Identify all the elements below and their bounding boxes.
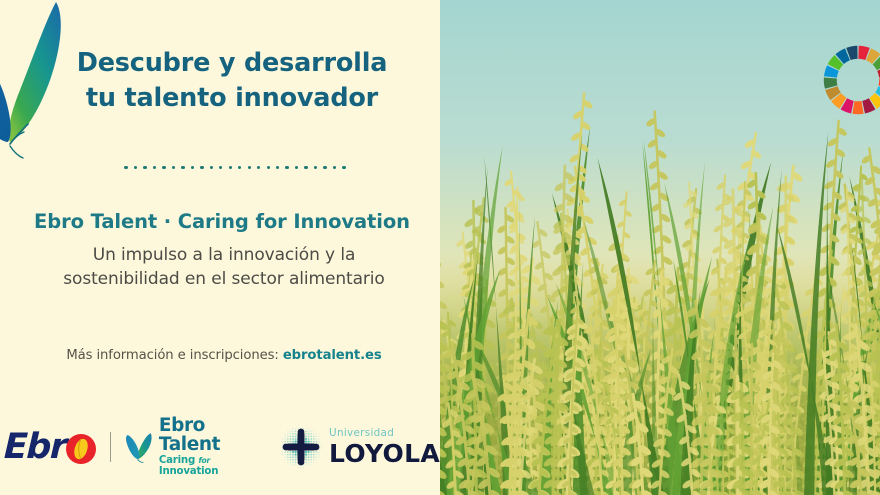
ebro-grain-icon: [64, 431, 98, 464]
ebro-logo: Ebr: [4, 430, 98, 465]
divider-dot: [248, 166, 251, 169]
poster-banner: Descubre y desarrolla tu talento innovad…: [0, 0, 880, 495]
divider-dot: [162, 166, 165, 169]
loyola-name: LOYOLA: [329, 441, 440, 466]
divider-dot: [295, 166, 298, 169]
divider-dot: [229, 166, 232, 169]
loyola-logo: Universidad LOYOLA: [279, 425, 440, 469]
loyola-wordmark: Universidad LOYOLA: [329, 428, 440, 465]
divider-dot: [333, 166, 336, 169]
sdg-wheel-icon: [820, 42, 880, 118]
ebro-wordmark: Ebr: [3, 430, 66, 465]
subtitle-line-1: Un impulso a la innovación y la: [8, 243, 440, 267]
divider-dot: [143, 166, 146, 169]
divider-dot: [191, 166, 194, 169]
divider-dot: [172, 166, 175, 169]
left-content-panel: Descubre y desarrolla tu talento innovad…: [0, 0, 440, 495]
ebro-talent-wordmark: Ebro Talent Caring for Innovation: [159, 417, 257, 476]
divider-dot: [153, 166, 156, 169]
subtitle: Un impulso a la innovación y la sostenib…: [0, 243, 440, 291]
logo-bar: Ebr: [0, 421, 440, 473]
divider-dot: [257, 166, 260, 169]
divider-dot: [304, 166, 307, 169]
dotted-divider: [0, 166, 440, 169]
divider-dot: [285, 166, 288, 169]
halftone-globe-cross-icon: [279, 425, 323, 469]
divider-dot: [134, 166, 137, 169]
ebro-talent-logo: Ebro Talent Caring for Innovation: [125, 417, 257, 476]
divider-dot: [276, 166, 279, 169]
rice-foreground-spikes: [440, 35, 880, 495]
divider-dot: [314, 166, 317, 169]
headline-line-1: Descubre y desarrolla: [77, 48, 388, 78]
ebro-talent-title: Ebro Talent: [159, 417, 257, 454]
divider-dot: [181, 166, 184, 169]
divider-dot: [267, 166, 270, 169]
brand-tagline: Ebro Talent · Caring for Innovation: [0, 210, 440, 233]
page-title: Descubre y desarrolla tu talento innovad…: [0, 46, 440, 116]
divider-dot: [210, 166, 213, 169]
butterfly-small-icon: [125, 428, 154, 466]
ebro-talent-tagline: Caring for Innovation: [159, 456, 257, 476]
tagline-for: for: [198, 456, 210, 465]
info-label: Más información e inscripciones:: [66, 348, 278, 363]
subtitle-line-2: sostenibilidad en el sector alimentario: [8, 267, 440, 291]
sdg-segment: [852, 101, 863, 114]
divider-dot: [124, 166, 127, 169]
rice-field-photo: [440, 0, 880, 495]
divider-dot: [219, 166, 222, 169]
headline-line-2: tu talento innovador: [24, 81, 440, 116]
info-line: Más información e inscripciones: ebrotal…: [0, 348, 440, 363]
loyola-universidad: Universidad: [329, 428, 440, 438]
website-link[interactable]: ebrotalent.es: [283, 348, 382, 363]
divider-dot: [200, 166, 203, 169]
tagline-innovation: Innovation: [159, 466, 218, 477]
divider-dot: [323, 166, 326, 169]
divider-dot: [342, 166, 345, 169]
divider-dot: [238, 166, 241, 169]
logo-divider: [110, 432, 111, 462]
